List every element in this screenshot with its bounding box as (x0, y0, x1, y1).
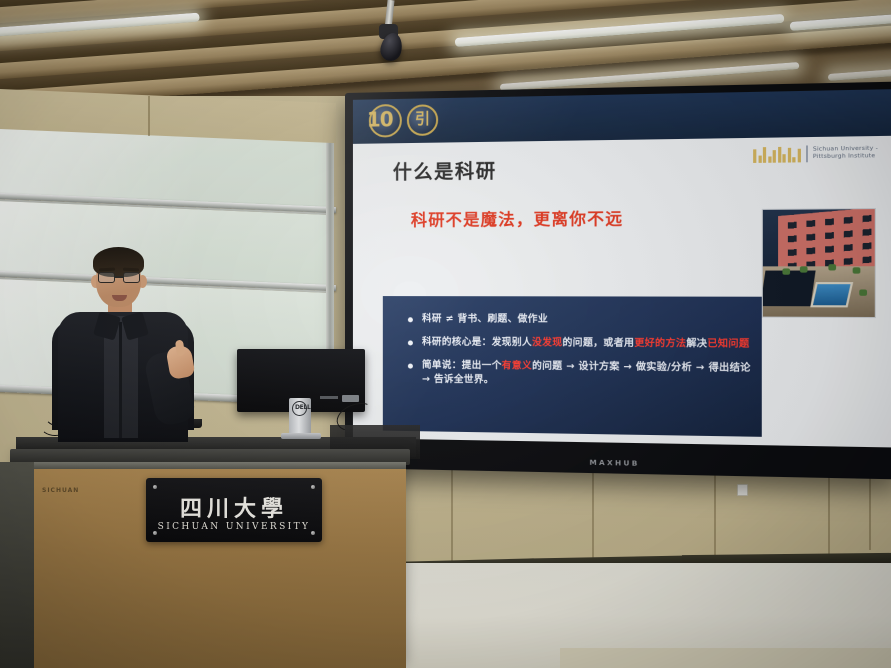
ceiling-light (828, 67, 891, 81)
anniversary-emblem-label: 10 (367, 109, 393, 130)
wall-seam (592, 468, 594, 570)
floor-strip (560, 648, 891, 668)
slide-photo (762, 208, 876, 318)
display-panel: 10 引 Sichuan University - Pitts (353, 89, 891, 447)
scupi-divider (806, 145, 807, 162)
dell-logo-icon: DELL (292, 401, 307, 416)
bullet-text: 的问题，或者用 (562, 337, 634, 349)
monitor-stand-base (281, 433, 321, 439)
lectern-side-logo: SICHUAN (42, 487, 79, 494)
wall-divider (148, 96, 150, 136)
scupi-line2: Pittsburgh Institute (813, 153, 878, 161)
bullet-list: 科研 ≠ 背书、刷题、做作业科研的核心是：发现别人没发现的问题，或者用更好的方法… (407, 312, 751, 400)
bullet-highlight-text: 已知问题 (707, 338, 749, 350)
bullet-highlight-text: 没发现 (532, 337, 562, 348)
dell-logo-label: DELL (295, 404, 311, 411)
slide-header-bar: 10 引 (353, 89, 891, 144)
bullet-text: 科研 ≠ 背书、刷题、做作业 (422, 313, 548, 325)
bullet-highlight-text: 有意义 (502, 360, 532, 371)
wall-socket (737, 484, 748, 496)
scupi-logo: Sichuan University - Pittsburgh Institut… (754, 144, 879, 162)
plaque-name-en: SICHUAN UNIVERSITY (146, 522, 322, 532)
lectern-side-panel (0, 462, 34, 668)
bullet-text: 科研的核心是：发现别人 (422, 336, 532, 348)
monitor-badge (342, 395, 359, 402)
institute-emblem-label: 引 (415, 111, 430, 126)
presenter-glasses-icon (97, 272, 141, 284)
bullet-text: 简单说：提出一个 (422, 360, 502, 372)
display-screen[interactable]: 10 引 Sichuan University - Pitts (345, 82, 891, 480)
bullet-item: 简单说：提出一个有意义的问题 → 设计方案 → 做实验/分析 → 得出结论 → … (407, 359, 751, 391)
slide-subtitle: 科研不是魔法，更离你不远 (411, 205, 623, 231)
slide-content-panel: 科研 ≠ 背书、刷题、做作业科研的核心是：发现别人没发现的问题，或者用更好的方法… (383, 296, 762, 437)
bullet-item: 科研的核心是：发现别人没发现的问题，或者用更好的方法解决已知问题 (407, 335, 751, 352)
monitor-ports (320, 396, 338, 399)
lectern-edge (14, 462, 406, 469)
plaque-name-cn: 四川大學 (146, 491, 322, 523)
bullet-highlight-text: 更好的方法 (634, 338, 686, 350)
scupi-mark-icon (754, 146, 801, 162)
presentation-slide: 10 引 Sichuan University - Pitts (353, 89, 891, 447)
university-plaque: 四川大學 SICHUAN UNIVERSITY (146, 478, 322, 542)
slide-title: 什么是科研 (393, 156, 497, 185)
bullet-text: 解决 (686, 338, 707, 350)
wall-seam (714, 468, 716, 564)
lecture-hall-photo: 10 引 Sichuan University - Pitts (0, 0, 891, 668)
presenter-shirt-placket (119, 322, 122, 438)
bullet-item: 科研 ≠ 背书、刷题、做作业 (407, 312, 751, 328)
